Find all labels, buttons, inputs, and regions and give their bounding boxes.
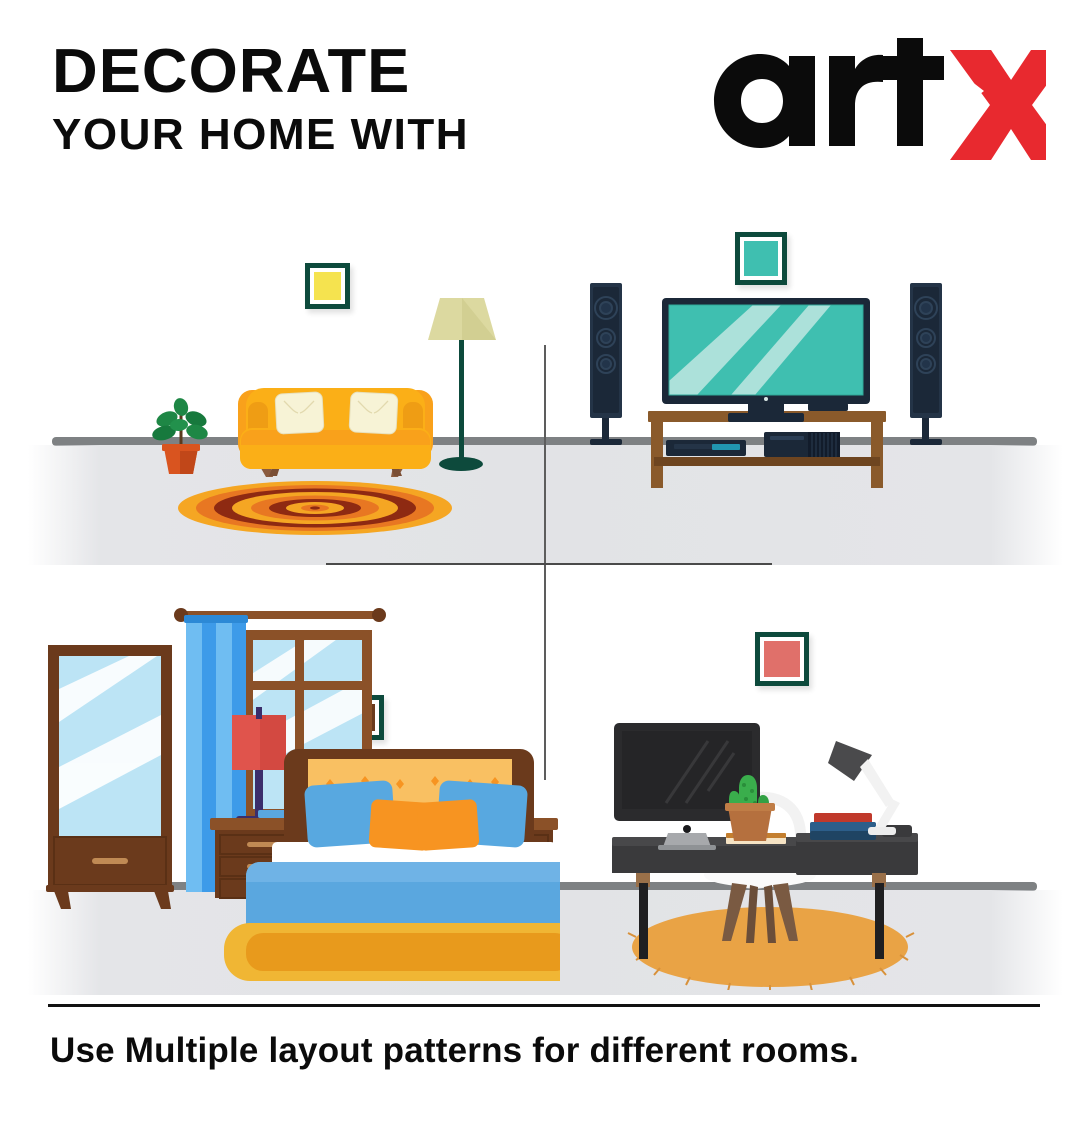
- footer-divider: [48, 1004, 1040, 1007]
- red-square-art-icon: [764, 641, 800, 677]
- potted-plant-icon: [150, 375, 212, 475]
- rectangular-rug-icon: [224, 923, 560, 981]
- footer-caption: Use Multiple layout patterns for differe…: [50, 1031, 1050, 1071]
- scenes-container: [0, 185, 1089, 995]
- frame-border: [755, 632, 809, 686]
- header: DECORATE YOUR HOME WITH: [0, 0, 1089, 185]
- footer: Use Multiple layout patterns for differe…: [0, 995, 1089, 1129]
- frame-mat: [740, 237, 782, 280]
- frame-border: [735, 232, 787, 285]
- speaker-right-icon: [910, 283, 942, 445]
- logo-letter-t: [883, 38, 944, 146]
- books-icon: [810, 813, 912, 840]
- teal-square-art-icon: [744, 241, 778, 276]
- headline-line-2: YOUR HOME WITH: [52, 102, 469, 162]
- wall-art-yellow[interactable]: [305, 263, 350, 309]
- floor-lamp-icon[interactable]: [424, 290, 500, 480]
- bedroom-group: [40, 597, 560, 987]
- logo-letter-a: [714, 54, 815, 148]
- frame-border: [305, 263, 350, 309]
- round-rug-living-icon: [178, 480, 453, 535]
- sofa-icon[interactable]: [228, 368, 443, 478]
- artx-logo[interactable]: [698, 38, 1046, 163]
- yellow-square-art-icon: [314, 272, 341, 300]
- wall-art-teal[interactable]: [735, 232, 787, 285]
- frame-mat: [310, 268, 345, 304]
- divider-horizontal: [326, 563, 772, 565]
- logo-letter-r: [829, 55, 883, 146]
- wall-art-red[interactable]: [755, 632, 809, 686]
- speaker-left-icon: [590, 283, 622, 445]
- tv-setup-group: [588, 280, 946, 495]
- standing-mirror-dresser-icon: [46, 645, 174, 909]
- flat-screen-tv-icon: [662, 298, 870, 422]
- artx-logo-svg: [698, 38, 1046, 163]
- poster-canvas: DECORATE YOUR HOME WITH: [0, 0, 1089, 1129]
- headline-block: DECORATE YOUR HOME WITH: [52, 42, 469, 162]
- home-office-group: [600, 715, 940, 990]
- frame-mat: [760, 637, 804, 681]
- headline-line-1: DECORATE: [52, 42, 477, 102]
